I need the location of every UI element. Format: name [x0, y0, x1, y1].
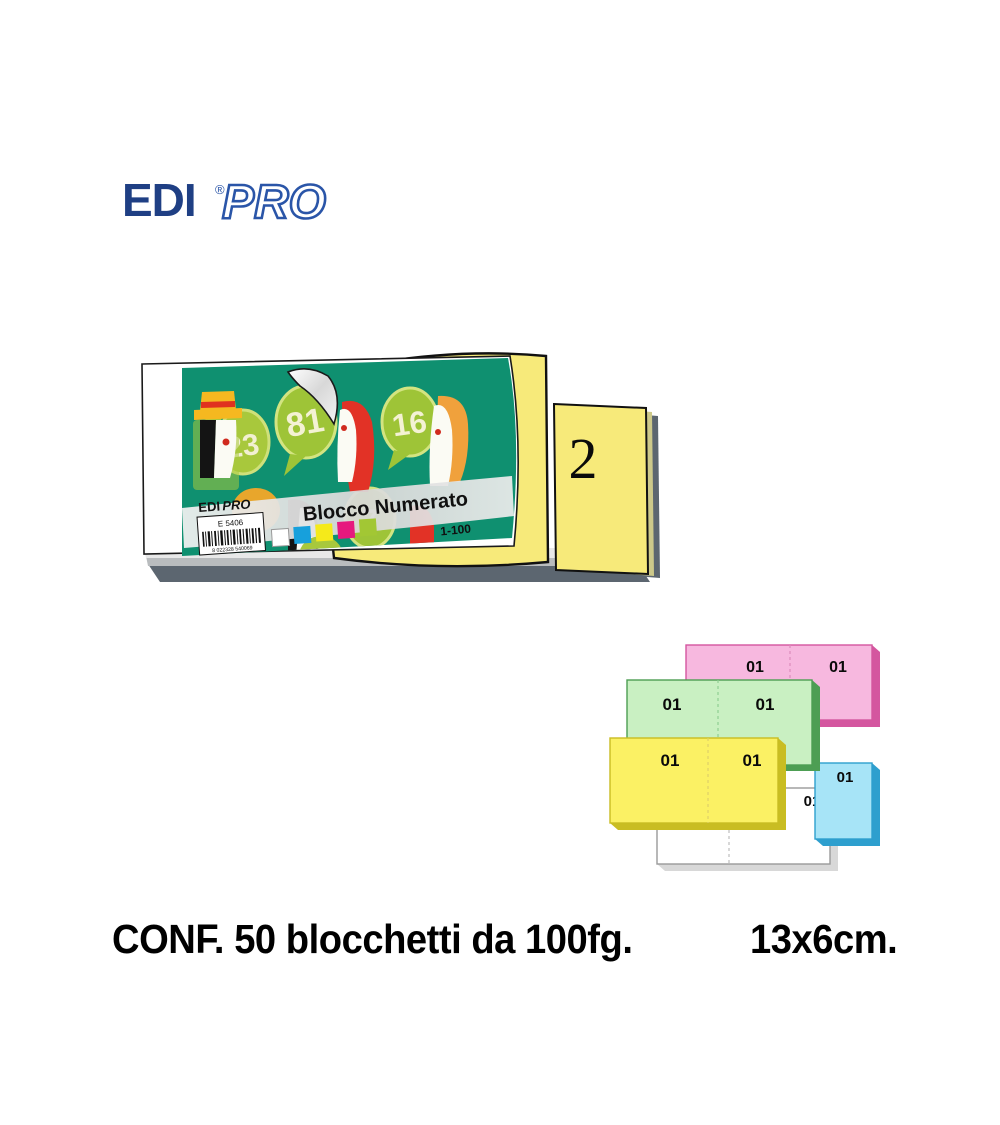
ticket-yellow-main-number: 01 [661, 751, 680, 770]
product-package-illustration: 2 1 23 81 [138, 350, 683, 650]
caption-bar: CONF. 50 blocchetti da 100fg. 13x6cm. [0, 908, 1000, 970]
package-page-2: 2 [554, 404, 660, 578]
brand-edi-text: EDI [122, 174, 196, 226]
ticket-green-stub-number: 01 [756, 695, 775, 714]
ticket-pink-main-number: 01 [746, 659, 764, 676]
swatch-yellow [315, 523, 333, 541]
swatch-magenta [337, 521, 355, 539]
ticket-yellow-stub-number: 01 [743, 751, 762, 770]
character-red-hair [337, 401, 374, 492]
label-brand-pro: PRO [222, 496, 251, 513]
label-article-code: E 5406 [218, 518, 244, 529]
ticket-blue: 01 [815, 763, 880, 846]
label-brand-edi: EDI [198, 499, 221, 515]
character-orange-hair [430, 396, 469, 486]
ticket-stack-illustration: 01 01 01 01 01 01 01 [600, 628, 900, 888]
ticket-pink-stub-number: 01 [829, 659, 847, 676]
banner-range: 1-100 [440, 522, 472, 539]
brand-logo-svg: EDI ® PRO [122, 172, 332, 228]
caption-quantity-text: CONF. 50 blocchetti da 100fg. [112, 916, 632, 963]
ticket-yellow: 01 01 [610, 738, 786, 830]
caption-size-text: 13x6cm. [750, 916, 897, 963]
ticket-green-main-number: 01 [663, 695, 682, 714]
brand-pro-text: PRO [222, 176, 326, 229]
bubble-number-81: 81 [283, 401, 327, 445]
swatch-green [359, 518, 377, 536]
swatch-blue [293, 526, 311, 544]
bubble-number-16: 16 [390, 404, 429, 443]
ticket-blue-number: 01 [837, 769, 854, 786]
page-number-2: 2 [569, 426, 598, 491]
swatch-white [271, 528, 289, 546]
brand-logo: EDI ® PRO [122, 172, 332, 228]
